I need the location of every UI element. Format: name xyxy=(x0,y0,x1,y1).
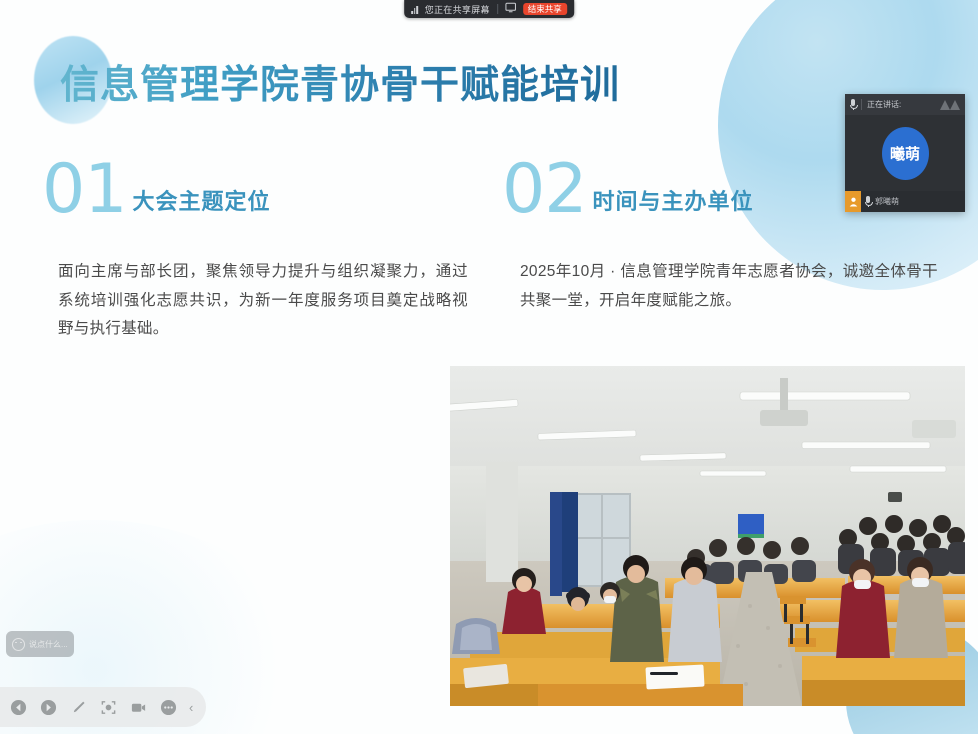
next-slide-button[interactable] xyxy=(39,698,58,717)
signal-bars-icon xyxy=(411,5,418,14)
divider xyxy=(497,4,498,14)
section-01: 01 大会主题定位 面向主席与部长团，聚焦领导力提升与组织凝聚力，通过系统培训强… xyxy=(42,148,472,344)
slide-title: 信息管理学院青协骨干赋能培训 xyxy=(60,54,620,110)
section-02-number: 02 xyxy=(502,159,587,222)
pen-annotate-button[interactable] xyxy=(69,698,88,717)
screen-share-icon[interactable] xyxy=(505,0,516,18)
smiley-icon[interactable] xyxy=(12,638,25,651)
presentation-toolbar: ‹ xyxy=(0,687,206,727)
previous-slide-button[interactable] xyxy=(9,698,28,717)
divider xyxy=(861,99,862,110)
participant-name: 郭曦萌 xyxy=(875,196,899,207)
stop-share-button[interactable]: 结束共享 xyxy=(523,3,567,16)
participant-video-tile[interactable]: 正在讲话: 曦萌 郭曦萌 xyxy=(845,94,965,212)
video-camera-button[interactable] xyxy=(129,698,148,717)
screen-share-bar: 您正在共享屏幕 结束共享 xyxy=(404,0,574,18)
video-stage: 曦萌 xyxy=(845,115,965,191)
presentation-slide: 信息管理学院青协骨干赋能培训 01 大会主题定位 面向主席与部长团，聚焦领导力提… xyxy=(0,0,978,734)
section-01-header: 01 大会主题定位 xyxy=(42,148,472,222)
section-01-number: 01 xyxy=(42,159,127,222)
avatar: 曦萌 xyxy=(882,127,929,180)
video-tile-footer: 郭曦萌 xyxy=(845,191,965,212)
section-02-heading: 时间与主办单位 xyxy=(593,184,754,222)
laser-pointer-button[interactable] xyxy=(99,698,118,717)
collapse-toolbar-button[interactable]: ‹ xyxy=(189,701,193,714)
chat-input-placeholder: 说点什么... xyxy=(29,639,68,650)
more-options-button[interactable] xyxy=(159,698,178,717)
classroom-photo xyxy=(450,366,965,706)
section-01-heading: 大会主题定位 xyxy=(133,184,271,222)
microphone-icon xyxy=(850,99,856,110)
person-icon xyxy=(845,191,861,212)
signal-strength-icon xyxy=(939,98,961,111)
share-status-text: 您正在共享屏幕 xyxy=(425,3,490,16)
section-02-body: 2025年10月 · 信息管理学院青年志愿者协会，诚邀全体骨干共聚一堂，开启年度… xyxy=(520,258,938,315)
speaking-label: 正在讲话: xyxy=(867,99,901,110)
chat-input[interactable]: 说点什么... xyxy=(6,631,74,657)
participant-microphone-icon xyxy=(865,196,871,207)
video-tile-header: 正在讲话: xyxy=(845,94,965,115)
section-01-body: 面向主席与部长团，聚焦领导力提升与组织凝聚力，通过系统培训强化志愿共识，为新一年… xyxy=(58,258,468,344)
